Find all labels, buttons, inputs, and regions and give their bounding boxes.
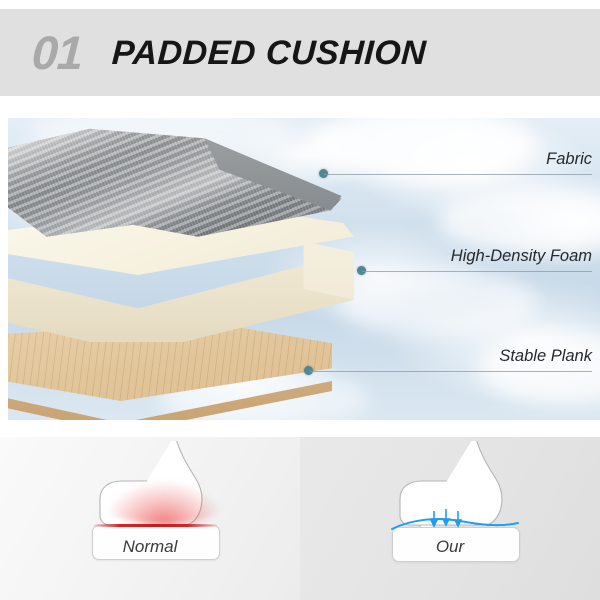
comparison-label-normal: Normal [0, 537, 300, 557]
layer-fabric [8, 124, 356, 244]
comparison-label-our: Our [300, 537, 600, 557]
callout-label-fabric: Fabric [392, 150, 592, 169]
callout-line-fabric [324, 174, 592, 175]
section-number: 01 [31, 29, 84, 76]
pressure-glow [104, 481, 224, 525]
callout-line-foam [362, 271, 592, 272]
cloud-decoration [338, 268, 538, 338]
callout-label-foam: High-Density Foam [332, 247, 592, 266]
normal-figure [0, 441, 300, 551]
header-content: 01 PADDED CUSHION [32, 9, 427, 96]
callout-line-plank [309, 371, 592, 372]
header-band: 01 PADDED CUSHION [0, 9, 600, 96]
pressure-point-line [92, 524, 218, 527]
comparison-our: Our [300, 437, 600, 600]
exploded-view-panel: Fabric High-Density Foam Stable Plank [8, 118, 600, 420]
our-figure [300, 441, 600, 551]
cloud-decoration [438, 188, 600, 254]
comparison-panel: Normal [0, 437, 600, 600]
cloud-decoration [478, 333, 600, 405]
page-title: PADDED CUSHION [111, 36, 427, 70]
product-infographic: 01 PADDED CUSHION Fabric [0, 0, 600, 600]
comparison-normal: Normal [0, 437, 300, 600]
cushion-contour-overlay [300, 441, 600, 551]
callout-label-plank: Stable Plank [372, 347, 592, 366]
